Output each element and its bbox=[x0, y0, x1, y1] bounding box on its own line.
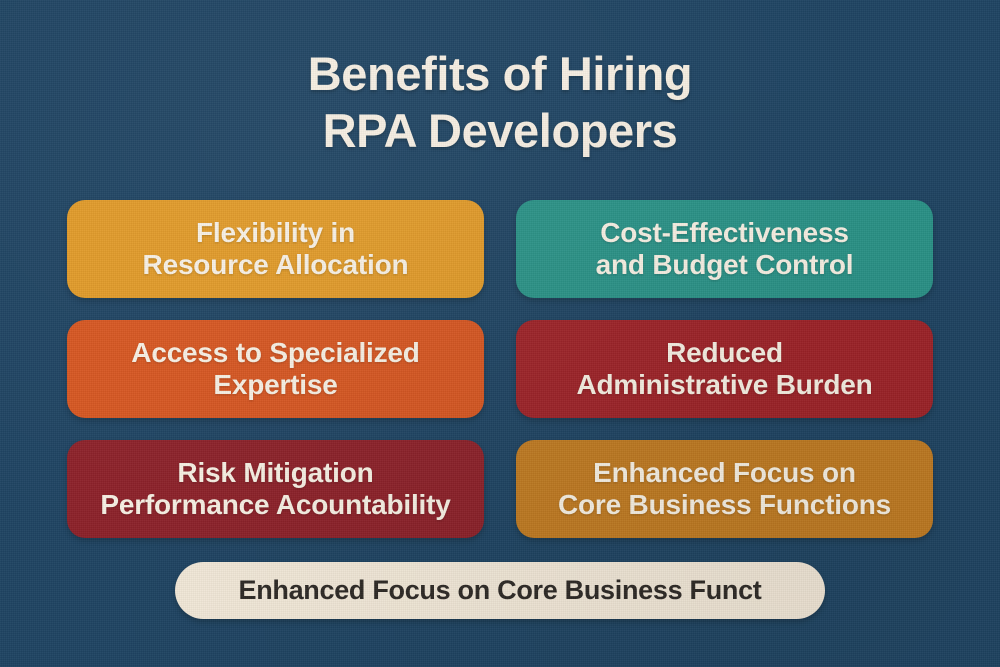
benefit-card-grid: Flexibility in Resource Allocation Cost-… bbox=[67, 200, 933, 560]
benefit-card-access-to-specialized-expertise[interactable]: Access to Specialized Expertise bbox=[67, 320, 484, 418]
benefit-card-label: Access to Specialized Expertise bbox=[131, 337, 419, 402]
benefit-card-row-2: Access to Specialized Expertise Reduced … bbox=[67, 320, 933, 418]
benefit-card-reduced-administrative-burden[interactable]: Reduced Administrative Burden bbox=[516, 320, 933, 418]
benefit-card-row-1: Flexibility in Resource Allocation Cost-… bbox=[67, 200, 933, 298]
benefit-card-enhanced-focus-on-core-business-functions[interactable]: Enhanced Focus on Core Business Function… bbox=[516, 440, 933, 538]
footer-highlight-label: Enhanced Focus on Core Business Funct bbox=[239, 575, 762, 606]
benefit-card-label: Flexibility in Resource Allocation bbox=[143, 217, 409, 282]
benefit-card-row-3: Risk Mitigation Performance Acountabilit… bbox=[67, 440, 933, 538]
benefit-card-label: Reduced Administrative Burden bbox=[576, 337, 872, 402]
benefit-card-label: Cost-Effectiveness and Budget Control bbox=[596, 217, 854, 282]
title-line-2: RPA Developers bbox=[0, 102, 1000, 159]
benefit-card-label: Risk Mitigation Performance Acountabilit… bbox=[100, 457, 450, 522]
infographic-poster: Benefits of Hiring RPA Developers Flexib… bbox=[0, 0, 1000, 667]
benefit-card-risk-mitigation-performance-acountability[interactable]: Risk Mitigation Performance Acountabilit… bbox=[67, 440, 484, 538]
footer-highlight-pill[interactable]: Enhanced Focus on Core Business Funct bbox=[175, 562, 825, 619]
benefit-card-cost-effectiveness-and-budget-control[interactable]: Cost-Effectiveness and Budget Control bbox=[516, 200, 933, 298]
title-line-1: Benefits of Hiring bbox=[0, 45, 1000, 102]
benefit-card-label: Enhanced Focus on Core Business Function… bbox=[558, 457, 891, 522]
page-title: Benefits of Hiring RPA Developers bbox=[0, 45, 1000, 160]
benefit-card-flexibility-in-resource-allocation[interactable]: Flexibility in Resource Allocation bbox=[67, 200, 484, 298]
